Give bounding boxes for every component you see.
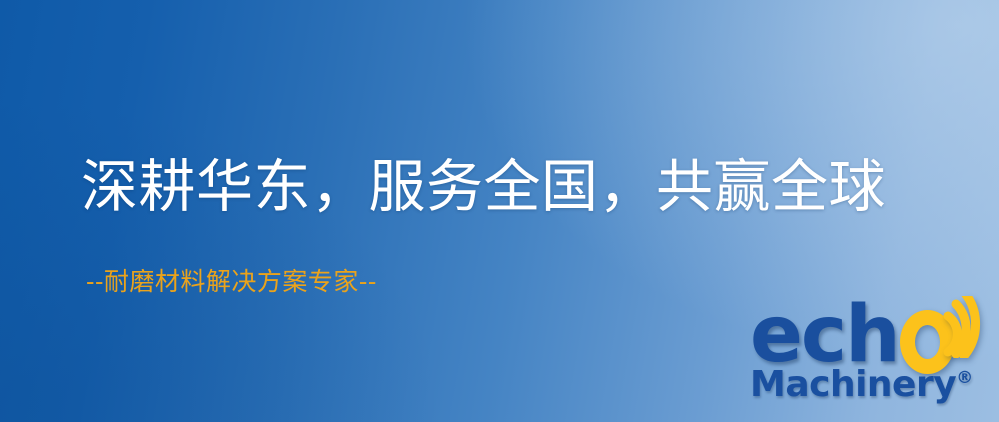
banner-headline: 深耕华东，服务全国，共赢全球 (81, 152, 886, 222)
logo-tagline: Machinery® (750, 364, 973, 405)
banner-subtitle: --耐磨材料解决方案专家-- (86, 266, 377, 298)
logo-wordmark: ech (748, 296, 996, 374)
logo-tagline-text: Machinery (750, 364, 956, 405)
company-logo[interactable]: ech Machinery® (748, 296, 996, 418)
registered-trademark-icon: ® (956, 368, 973, 388)
echo-signal-waves-icon (942, 296, 999, 358)
hero-banner: 深耕华东，服务全国，共赢全球 --耐磨材料解决方案专家-- ech Machin… (0, 0, 999, 422)
